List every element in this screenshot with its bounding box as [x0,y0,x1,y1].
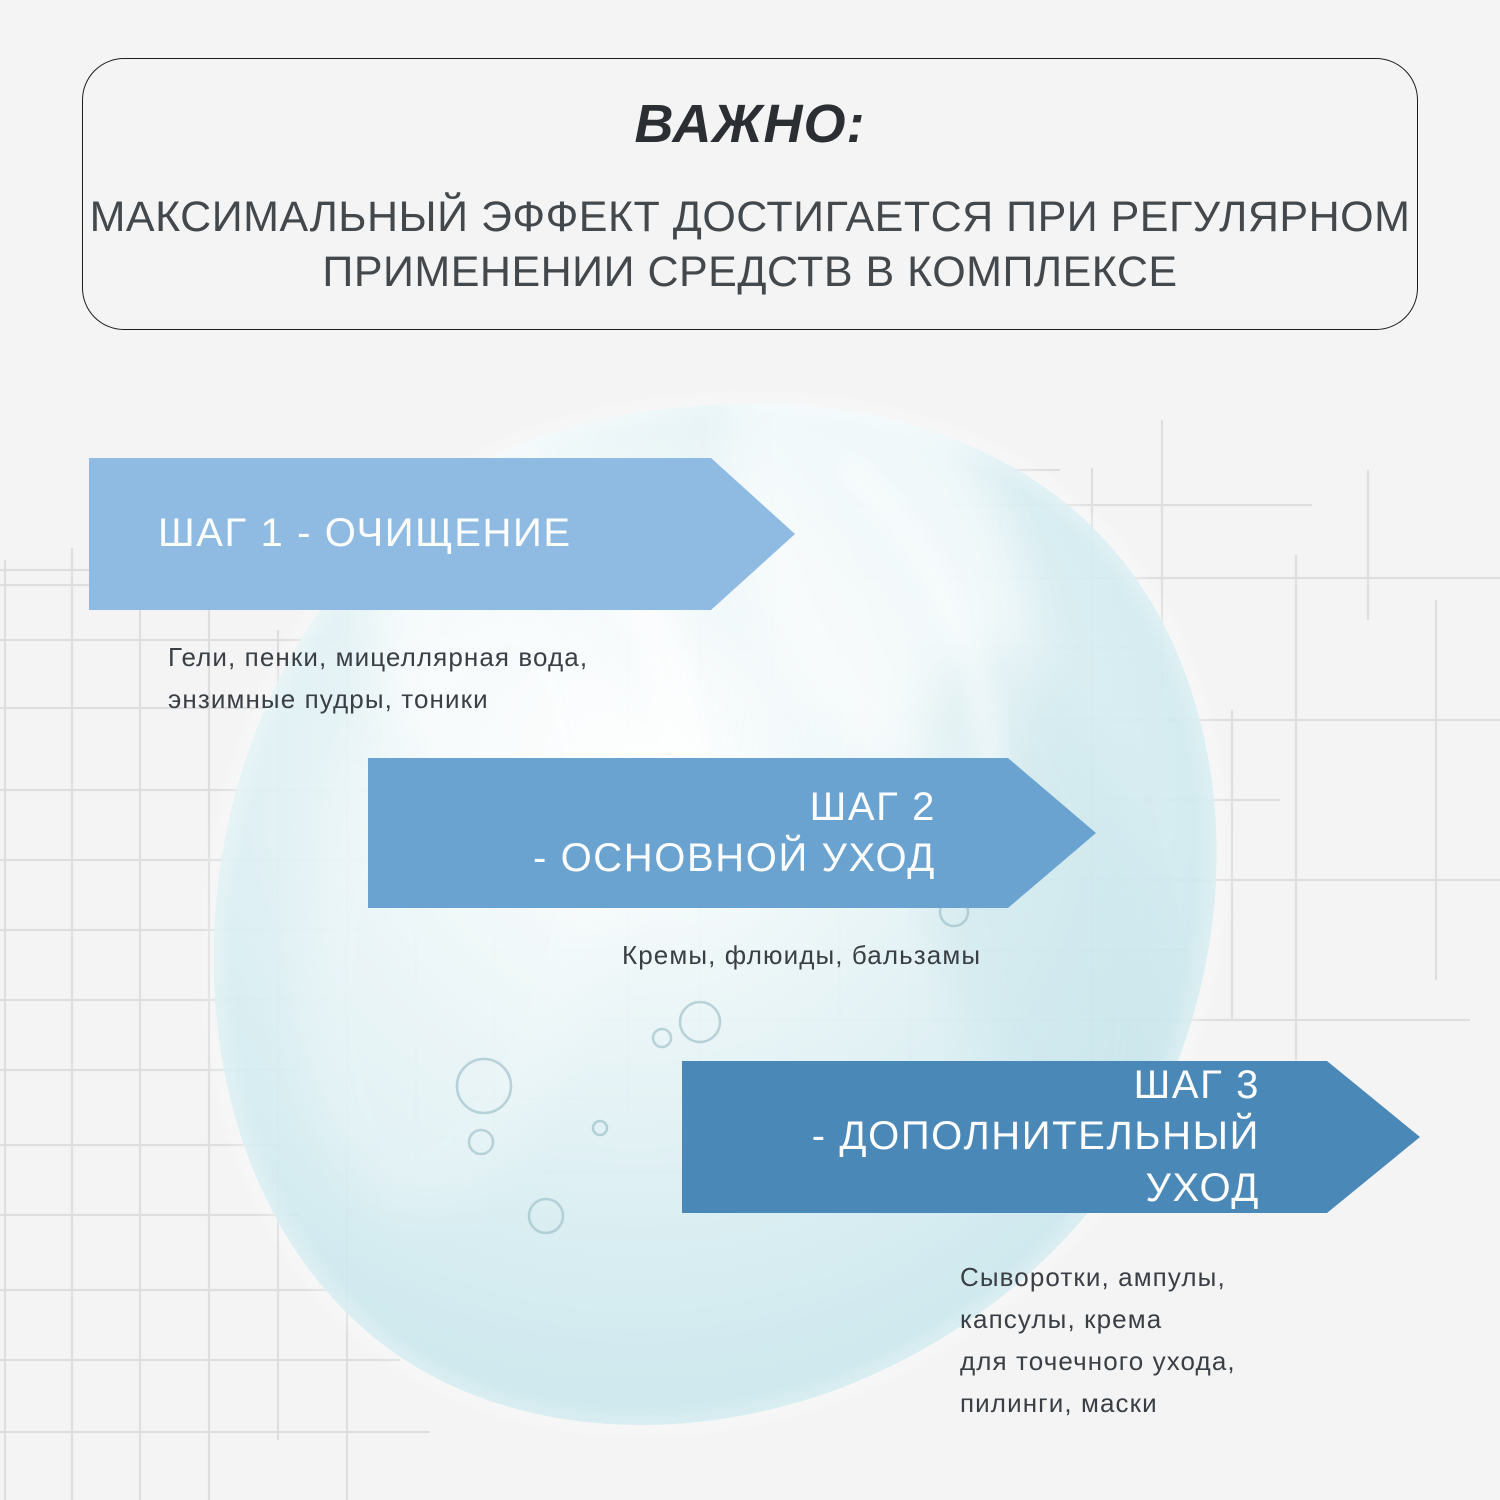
important-notice-box: ВАЖНО: МАКСИМАЛЬНЫЙ ЭФФЕКТ ДОСТИГАЕТСЯ П… [82,58,1418,330]
page-subtitle: МАКСИМАЛЬНЫЙ ЭФФЕКТ ДОСТИГАЕТСЯ ПРИ РЕГУ… [83,190,1417,300]
page-title: ВАЖНО: [635,95,866,154]
step-3-label: ШАГ 3 - ДОПОЛНИТЕЛЬНЫЙ УХОД [812,1060,1260,1214]
step-banner-3[interactable]: ШАГ 3 - ДОПОЛНИТЕЛЬНЫЙ УХОД [682,1061,1420,1213]
step-banner-2[interactable]: ШАГ 2 - ОСНОВНОЙ УХОД [368,758,1096,908]
step-1-label: ШАГ 1 - ОЧИЩЕНИЕ [158,508,572,559]
step-banner-1[interactable]: ШАГ 1 - ОЧИЩЕНИЕ [89,458,795,610]
step-3-caption: Сыворотки, ампулы, капсулы, крема для то… [960,1256,1236,1424]
step-1-caption: Гели, пенки, мицеллярная вода, энзимные … [168,636,588,720]
step-2-caption: Кремы, флюиды, бальзамы [622,934,981,976]
step-2-label: ШАГ 2 - ОСНОВНОЙ УХОД [533,782,936,884]
